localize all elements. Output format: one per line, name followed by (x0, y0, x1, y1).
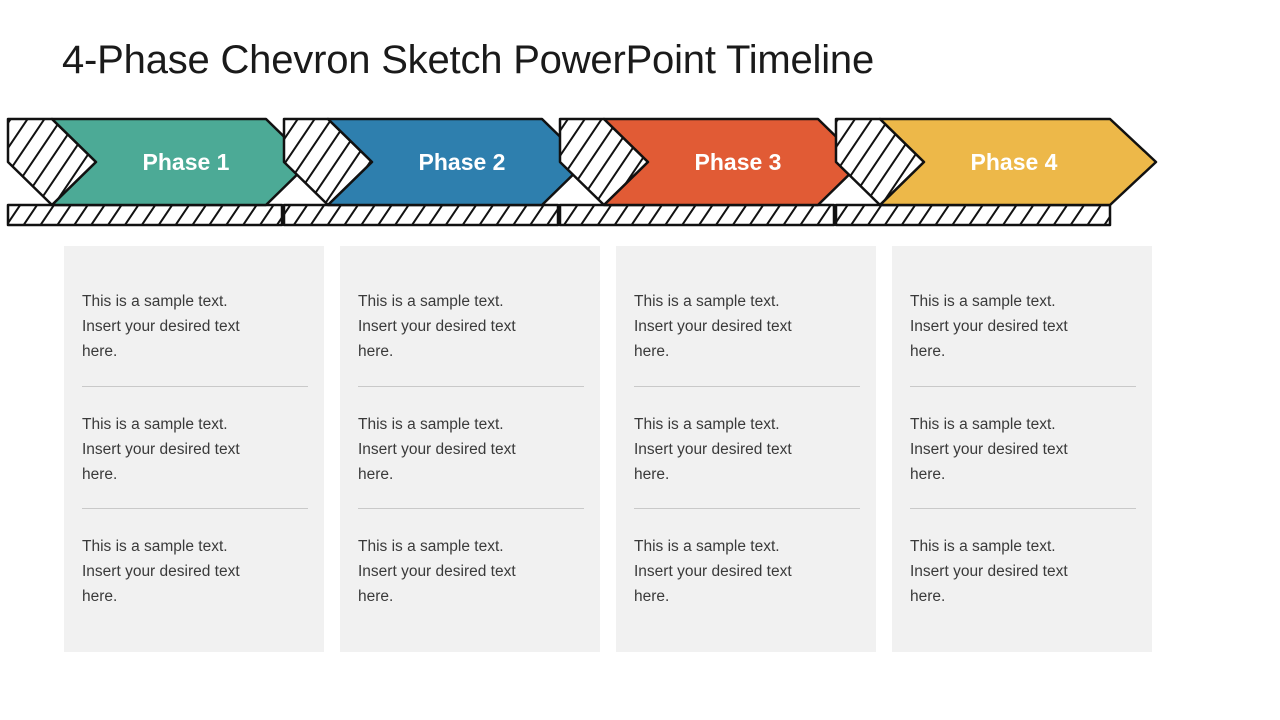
content-block: This is a sample text. Insert your desir… (82, 285, 306, 368)
content-block: This is a sample text. Insert your desir… (634, 285, 858, 368)
content-block: This is a sample text. Insert your desir… (82, 408, 306, 491)
content-block: This is a sample text. Insert your desir… (634, 408, 858, 491)
content-block: This is a sample text. Insert your desir… (910, 408, 1134, 491)
chevron-label-1: Phase 1 (143, 149, 230, 175)
content-panel-row: This is a sample text. Insert your desir… (64, 246, 1216, 652)
content-text: This is a sample text. Insert your desir… (634, 534, 814, 609)
chevron-phase-3[interactable]: Phase 3 (560, 119, 862, 225)
chevron-bottom-shadow-1 (8, 205, 282, 225)
chevron-phase-4[interactable]: Phase 4 (836, 119, 1156, 225)
content-block: This is a sample text. Insert your desir… (358, 285, 582, 368)
chevron-phase-1[interactable]: Phase 1 (8, 119, 310, 225)
content-text: This is a sample text. Insert your desir… (82, 289, 262, 364)
chevron-bottom-shadow-4 (836, 205, 1110, 225)
content-text: This is a sample text. Insert your desir… (82, 412, 262, 487)
chevron-label-3: Phase 3 (695, 149, 782, 175)
content-text: This is a sample text. Insert your desir… (910, 534, 1090, 609)
page-title: 4-Phase Chevron Sketch PowerPoint Timeli… (62, 38, 874, 83)
content-text: This is a sample text. Insert your desir… (910, 412, 1090, 487)
content-text: This is a sample text. Insert your desir… (634, 289, 814, 364)
chevron-bottom-shadow-2 (284, 205, 558, 225)
content-text: This is a sample text. Insert your desir… (910, 289, 1090, 364)
chevron-label-4: Phase 4 (971, 149, 1058, 175)
content-panel-2: This is a sample text. Insert your desir… (340, 246, 600, 652)
content-text: This is a sample text. Insert your desir… (634, 412, 814, 487)
chevron-bottom-shadow-3 (560, 205, 834, 225)
content-block: This is a sample text. Insert your desir… (358, 408, 582, 491)
content-text: This is a sample text. Insert your desir… (358, 534, 538, 609)
content-block: This is a sample text. Insert your desir… (910, 285, 1134, 368)
content-panel-3: This is a sample text. Insert your desir… (616, 246, 876, 652)
content-panel-4: This is a sample text. Insert your desir… (892, 246, 1152, 652)
content-text: This is a sample text. Insert your desir… (358, 412, 538, 487)
content-block: This is a sample text. Insert your desir… (910, 530, 1134, 613)
content-block: This is a sample text. Insert your desir… (358, 530, 582, 613)
content-block: This is a sample text. Insert your desir… (82, 530, 306, 613)
chevron-phase-2[interactable]: Phase 2 (284, 119, 586, 225)
chevron-label-2: Phase 2 (419, 149, 506, 175)
content-text: This is a sample text. Insert your desir… (82, 534, 262, 609)
chevron-timeline: Phase 1 Phase 2 Phase 3 Phase 4 (0, 108, 1280, 238)
chevron-timeline-svg: Phase 1 Phase 2 Phase 3 Phase 4 (0, 108, 1280, 238)
content-block: This is a sample text. Insert your desir… (634, 530, 858, 613)
content-panel-1: This is a sample text. Insert your desir… (64, 246, 324, 652)
content-text: This is a sample text. Insert your desir… (358, 289, 538, 364)
